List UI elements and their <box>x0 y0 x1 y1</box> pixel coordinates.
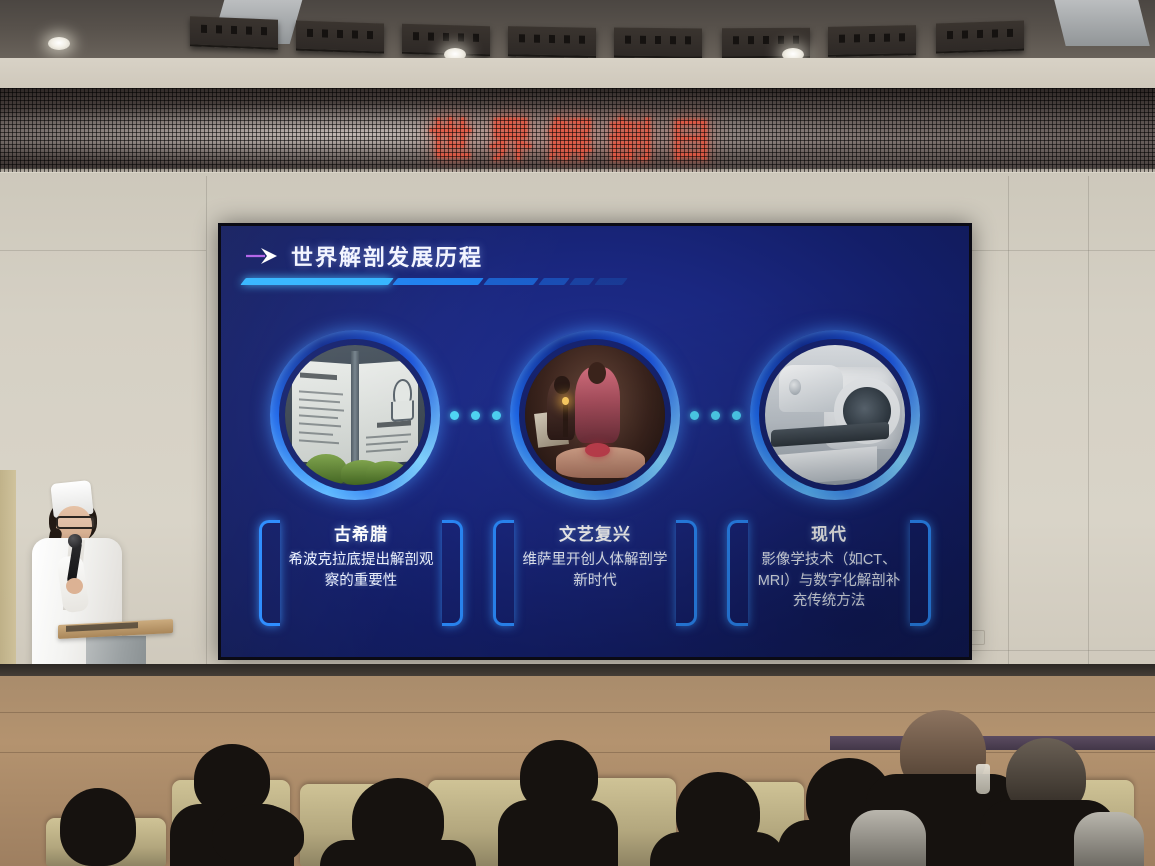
timeline-images-row <box>221 330 969 500</box>
bracket-left-icon <box>727 520 748 626</box>
hippocratic-oath-book-photo <box>270 330 440 500</box>
timeline-cards-row: 古希腊 希波克拉底提出解剖观察的重要性 文艺复兴 维萨里开创人体解剖学新时代 现… <box>221 512 969 638</box>
audience-shoulders <box>650 832 786 866</box>
card-title: 现代 <box>751 520 907 545</box>
ceiling-panel <box>614 28 702 59</box>
baseboard <box>0 664 1155 676</box>
audience-head <box>60 788 136 866</box>
three-dots-icon <box>680 330 750 500</box>
audience-shoulders <box>498 800 618 866</box>
card-description: 影像学技术（如CT、MRI）与数字化解剖补充传统方法 <box>751 550 907 612</box>
audience-head <box>212 804 304 866</box>
led-pixel-grid <box>0 88 1155 172</box>
ceiling-panel <box>296 20 384 53</box>
timeline-card-modern: 现代 影像学技术（如CT、MRI）与数字化解剖补充传统方法 <box>725 512 933 632</box>
bracket-right-icon <box>676 520 697 626</box>
ceiling-panel <box>828 25 916 57</box>
bracket-right-icon <box>910 520 931 626</box>
glasses-icon <box>56 516 96 529</box>
card-title: 文艺复兴 <box>517 520 673 545</box>
bracket-left-icon <box>493 520 514 626</box>
ceiling-panel <box>936 20 1024 53</box>
title-underline-decor <box>243 278 663 290</box>
arrow-right-icon <box>245 247 279 265</box>
slide-title-row: 世界解剖发展历程 <box>245 240 483 272</box>
card-title: 古希腊 <box>283 520 439 545</box>
downlight <box>48 37 70 50</box>
ceiling-panel <box>508 26 596 58</box>
three-dots-icon <box>440 330 510 500</box>
image-clip <box>285 345 425 485</box>
bracket-left-icon <box>259 520 280 626</box>
audience <box>0 700 1155 866</box>
microphone-head <box>68 534 82 548</box>
bracket-right-icon <box>442 520 463 626</box>
wall-fixture <box>970 630 985 645</box>
audience-shirt <box>850 810 926 866</box>
renaissance-dissection-painting-photo <box>510 330 680 500</box>
wall-seam <box>966 250 1155 251</box>
image-clip <box>525 345 665 485</box>
image-clip <box>765 345 905 485</box>
wall-seam <box>0 250 206 251</box>
led-banner: 世界解剖日 <box>0 88 1155 172</box>
timeline-card-renaissance: 文艺复兴 维萨里开创人体解剖学新时代 <box>491 512 699 632</box>
ct-mri-scanner-photo <box>750 330 920 500</box>
side-door <box>0 470 16 670</box>
card-description: 希波克拉底提出解剖观察的重要性 <box>283 550 439 591</box>
timeline-card-ancient-greece: 古希腊 希波克拉底提出解剖观察的重要性 <box>257 512 465 632</box>
card-description: 维萨里开创人体解剖学新时代 <box>517 550 673 591</box>
projection-screen: 世界解剖发展历程 <box>218 223 972 660</box>
water-bottle <box>976 764 990 794</box>
audience-shoulders <box>320 840 476 866</box>
ceiling-skylight-right <box>1054 0 1149 46</box>
audience-shirt <box>1074 812 1144 866</box>
slide-canvas: 世界解剖发展历程 <box>221 226 969 657</box>
slide-title: 世界解剖发展历程 <box>291 240 483 272</box>
presenter-hand <box>66 578 83 594</box>
wall-seam <box>206 176 207 664</box>
wall-seam <box>966 650 1155 651</box>
ceiling-panel <box>190 16 278 49</box>
lecture-hall-photo: 世界解剖日 世界解剖发展历程 <box>0 0 1155 866</box>
